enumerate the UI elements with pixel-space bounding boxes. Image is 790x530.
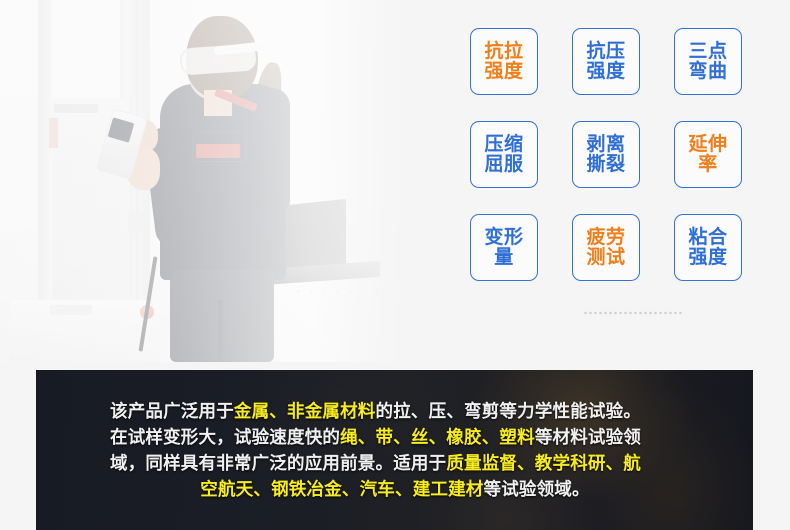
feature-line-1: 延伸	[688, 135, 727, 155]
feature-box-elongation-rate[interactable]: 延伸 率	[674, 121, 742, 188]
decorative-dot-strip	[583, 310, 683, 316]
desc-text-plain: 等材料试验领	[535, 427, 641, 447]
feature-box-deformation[interactable]: 变形 量	[470, 214, 538, 281]
description-line-3: 域，同样具有非常广泛的应用前景。适用于质量监督、教学科研、航	[110, 450, 680, 476]
feature-line-1: 剥离	[586, 135, 625, 155]
feature-row: 抗拉 强度 抗压 强度 三点 弯曲	[470, 28, 742, 95]
feature-line-1: 变形	[484, 228, 523, 248]
feature-line-1: 三点	[688, 42, 727, 62]
feature-box-peel-tear[interactable]: 剥离 撕裂	[572, 121, 640, 188]
feature-row: 压缩 屈服 剥离 撕裂 延伸 率	[470, 121, 742, 188]
feature-box-bonding-strength[interactable]: 粘合 强度	[674, 214, 742, 281]
feature-box-tensile-strength[interactable]: 抗拉 强度	[470, 28, 538, 95]
desc-text-plain: 域，同样具有非常广泛的应用前景。适用于	[110, 453, 446, 473]
feature-line-1: 抗压	[586, 42, 625, 62]
feature-row: 变形 量 疲劳 测试 粘合 强度	[470, 214, 742, 281]
desc-text-plain: 的拉、压、弯剪等力学性能试验。	[376, 401, 642, 421]
desc-text-highlight: 质量监督、教学科研、航	[446, 453, 641, 473]
desc-text-plain: 在试样变形大，试验速度快的	[110, 427, 340, 447]
feature-line-2: 率	[698, 155, 718, 175]
description-text: 该产品广泛用于金属、非金属材料的拉、压、弯剪等力学性能试验。 在试样变形大，试验…	[110, 398, 680, 502]
description-line-2: 在试样变形大，试验速度快的绳、带、丝、橡胶、塑料等材料试验领	[110, 424, 680, 450]
feature-line-2: 弯曲	[688, 62, 727, 82]
desc-text-plain: 等试验领域。	[484, 479, 590, 499]
feature-line-1: 粘合	[688, 228, 727, 248]
feature-line-2: 强度	[586, 62, 625, 82]
photo-fade-overlay	[0, 0, 400, 362]
feature-box-three-point-bending[interactable]: 三点 弯曲	[674, 28, 742, 95]
feature-line-2: 屈服	[484, 155, 523, 175]
feature-line-2: 测试	[586, 248, 625, 268]
description-line-1: 该产品广泛用于金属、非金属材料的拉、压、弯剪等力学性能试验。	[110, 398, 680, 424]
description-banner: 该产品广泛用于金属、非金属材料的拉、压、弯剪等力学性能试验。 在试样变形大，试验…	[36, 370, 753, 530]
feature-box-compressive-strength[interactable]: 抗压 强度	[572, 28, 640, 95]
desc-text-highlight: 金属、非金属材料	[234, 401, 376, 421]
feature-line-1: 抗拉	[484, 42, 523, 62]
description-line-4: 空航天、钢铁冶金、汽车、建工建材等试验领域。	[110, 476, 680, 502]
feature-line-1: 疲劳	[586, 228, 625, 248]
feature-line-1: 压缩	[484, 135, 523, 155]
desc-text-highlight: 空航天、钢铁冶金、汽车、建工建材	[200, 479, 483, 499]
desc-text-plain: 该产品广泛用于	[110, 401, 234, 421]
feature-line-2: 撕裂	[586, 155, 625, 175]
feature-grid: 抗拉 强度 抗压 强度 三点 弯曲 压缩 屈服 剥离 撕裂 延伸	[470, 28, 742, 309]
feature-line-2: 强度	[484, 62, 523, 82]
feature-box-fatigue-test[interactable]: 疲劳 测试	[572, 214, 640, 281]
feature-line-2: 量	[494, 248, 514, 268]
hero-photo	[0, 0, 400, 362]
feature-box-compression-yield[interactable]: 压缩 屈服	[470, 121, 538, 188]
desc-text-highlight: 绳、带、丝、橡胶、塑料	[340, 427, 535, 447]
promo-page: 抗拉 强度 抗压 强度 三点 弯曲 压缩 屈服 剥离 撕裂 延伸	[0, 0, 790, 530]
feature-line-2: 强度	[688, 248, 727, 268]
